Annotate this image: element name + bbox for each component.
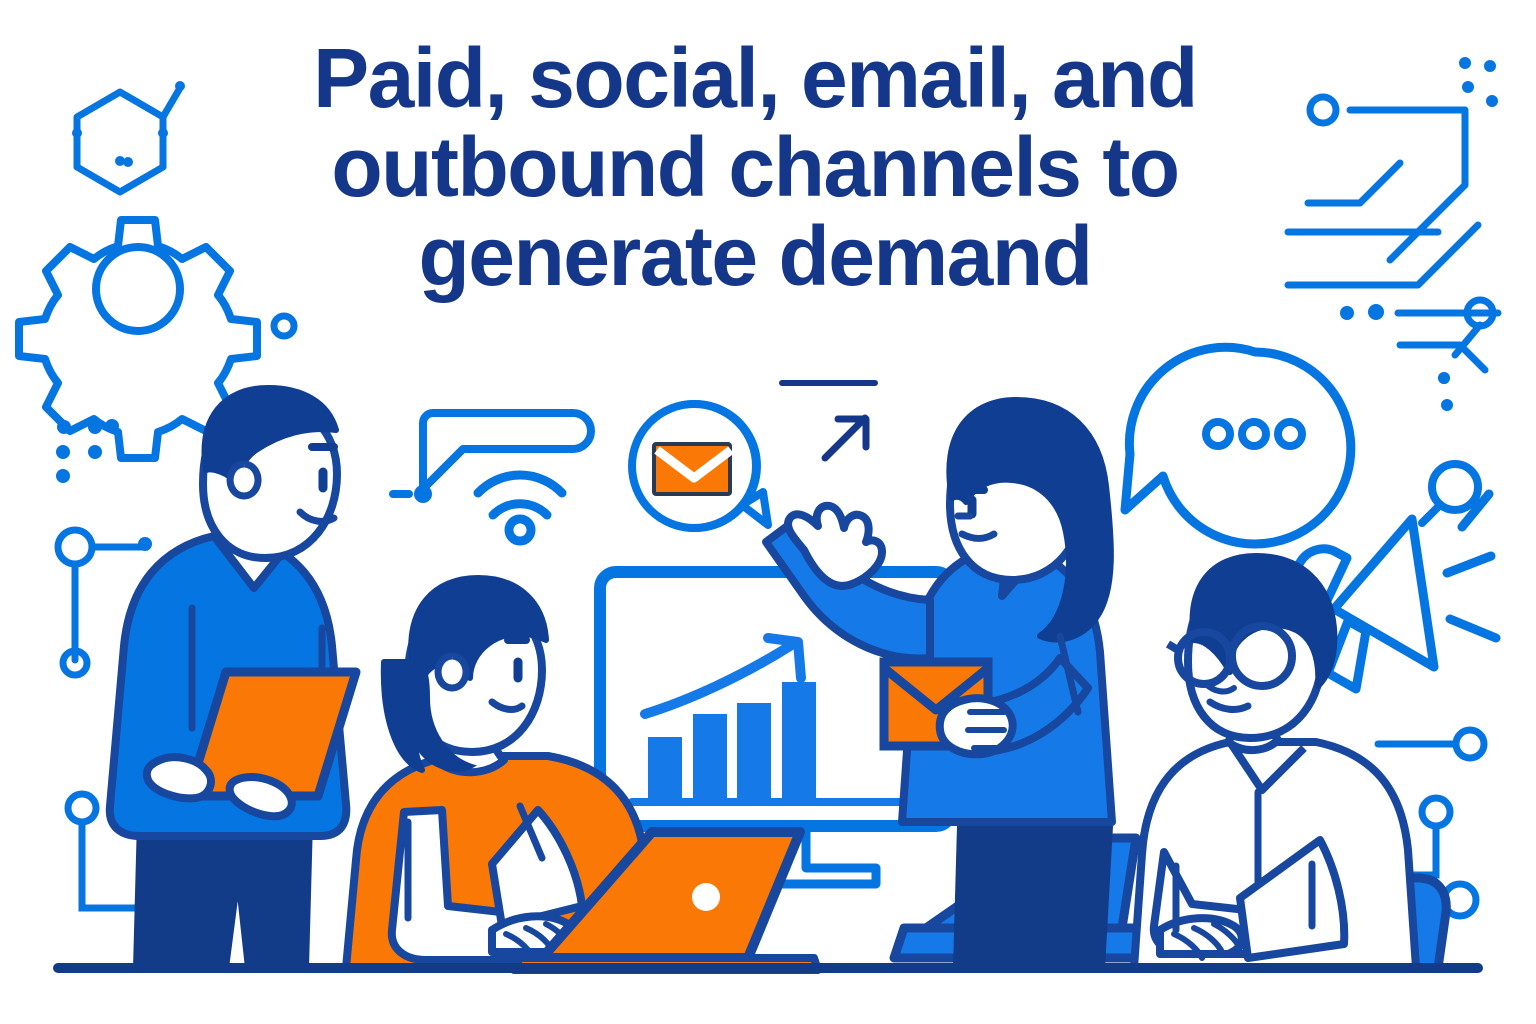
small-circle-icon (274, 316, 294, 336)
chat-bubble-dots-icon (1125, 347, 1351, 544)
wifi-signal-icon (478, 475, 562, 541)
email-bubble-icon (632, 404, 768, 528)
circuit-lines-icon (1288, 57, 1498, 411)
scene-illustration (0, 0, 1536, 1024)
dot-grid-icon (56, 419, 119, 483)
hexagon-molecule-icon (72, 81, 185, 192)
arrow-up-right-icon (825, 418, 866, 458)
laptop-logo (692, 883, 720, 911)
person-standing-man-left (110, 388, 356, 968)
illustration-canvas: Paid, social, email, and outbound channe… (0, 0, 1536, 1024)
envelope-glyph (654, 444, 731, 494)
